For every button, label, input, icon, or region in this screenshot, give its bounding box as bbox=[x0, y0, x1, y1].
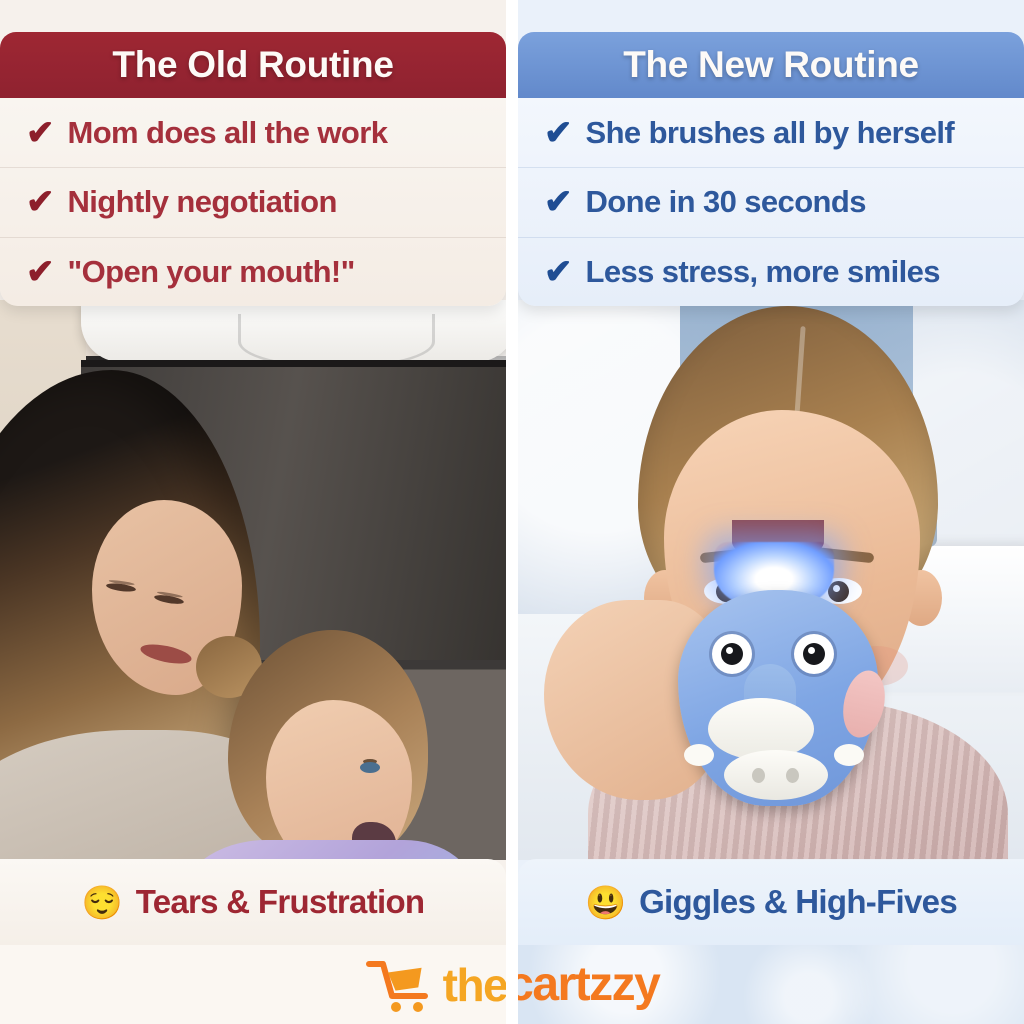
panel-old-routine: The Old Routine ✔ Mom does all the work … bbox=[0, 0, 506, 945]
caption-new-routine: 😃 Giggles & High-Fives bbox=[518, 859, 1024, 945]
check-icon: ✔ bbox=[26, 185, 55, 219]
panel-new-routine: The New Routine ✔ She brushes all by her… bbox=[518, 0, 1024, 945]
elephant-eye-left bbox=[712, 634, 752, 674]
logo-text-cartzzy: cartzzy bbox=[507, 957, 659, 1012]
list-item: ✔ "Open your mouth!" bbox=[0, 237, 506, 306]
checklist-old-routine: ✔ Mom does all the work ✔ Nightly negoti… bbox=[0, 98, 506, 306]
list-item-label: Less stress, more smiles bbox=[586, 254, 940, 290]
check-icon: ✔ bbox=[544, 185, 573, 219]
elephant-foot-left bbox=[684, 744, 714, 766]
logo-text-the: the bbox=[443, 958, 508, 1012]
comparison-infographic: The Old Routine ✔ Mom does all the work … bbox=[0, 0, 1024, 1024]
list-item: ✔ Less stress, more smiles bbox=[518, 237, 1024, 306]
check-icon: ✔ bbox=[26, 255, 55, 289]
check-icon: ✔ bbox=[544, 255, 573, 289]
photo-new-routine bbox=[518, 300, 1024, 860]
header-new-routine: The New Routine bbox=[518, 32, 1024, 98]
list-item: ✔ She brushes all by herself bbox=[518, 98, 1024, 167]
relieved-sad-face-emoji: 😌 bbox=[82, 886, 123, 919]
elephant-foot-right bbox=[834, 744, 864, 766]
elephant-snout bbox=[724, 750, 828, 800]
checklist-new-routine: ✔ She brushes all by herself ✔ Done in 3… bbox=[518, 98, 1024, 306]
mother-eye-right bbox=[154, 593, 185, 605]
check-icon: ✔ bbox=[26, 116, 55, 150]
caption-label-new: Giggles & High-Fives bbox=[639, 883, 957, 921]
bathroom-counter bbox=[81, 300, 506, 362]
grinning-face-emoji: 😃 bbox=[585, 886, 626, 919]
list-item-label: She brushes all by herself bbox=[586, 115, 955, 151]
list-item-label: "Open your mouth!" bbox=[68, 254, 355, 290]
child-face bbox=[266, 700, 412, 860]
check-icon: ✔ bbox=[544, 116, 573, 150]
caption-label-old: Tears & Frustration bbox=[136, 883, 425, 921]
list-item: ✔ Mom does all the work bbox=[0, 98, 506, 167]
elephant-eye-right bbox=[794, 634, 834, 674]
panel-divider bbox=[506, 0, 518, 1024]
list-item-label: Mom does all the work bbox=[68, 115, 388, 151]
header-title-old: The Old Routine bbox=[112, 44, 393, 86]
caption-old-routine: 😌 Tears & Frustration bbox=[0, 859, 506, 945]
header-title-new: The New Routine bbox=[623, 44, 919, 86]
mother-lips bbox=[139, 641, 193, 667]
child-eye bbox=[360, 762, 380, 773]
shopping-cart-icon bbox=[365, 956, 437, 1014]
mother-eye-left bbox=[106, 582, 137, 593]
list-item: ✔ Done in 30 seconds bbox=[518, 167, 1024, 236]
header-old-routine: The Old Routine bbox=[0, 32, 506, 98]
list-item-label: Nightly negotiation bbox=[68, 184, 337, 220]
elephant-toothbrush-product bbox=[678, 590, 878, 806]
list-item-label: Done in 30 seconds bbox=[586, 184, 866, 220]
photo-old-routine bbox=[0, 300, 506, 860]
list-item: ✔ Nightly negotiation bbox=[0, 167, 506, 236]
